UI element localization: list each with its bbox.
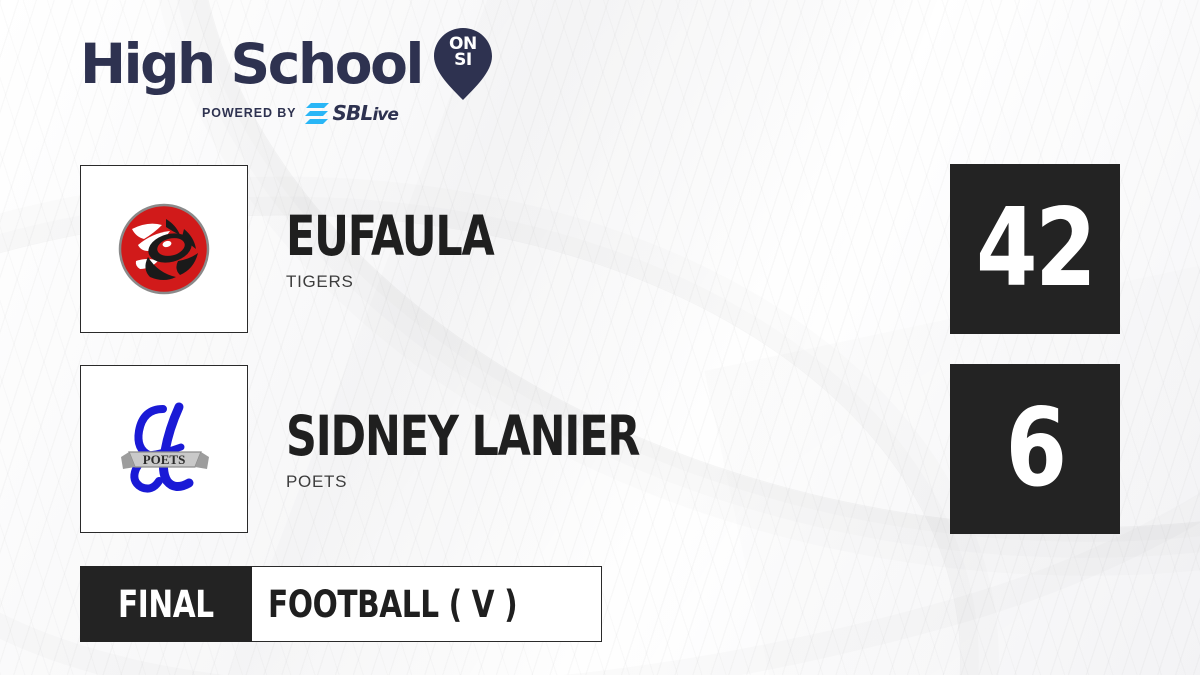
brand-title: High School <box>80 37 422 92</box>
map-pin-label: ON SI <box>434 37 492 68</box>
team-score-box: 42 <box>950 164 1120 334</box>
badge-line-2: SI <box>434 53 492 69</box>
team-name: SIDNEY LANIER <box>286 407 937 465</box>
sblive-s-mark-icon <box>304 103 330 124</box>
brand-wordmark: High School ON SI <box>80 32 520 96</box>
sblive-word-main: SBL <box>332 101 372 125</box>
status-bar: FINAL FOOTBALL ( V ) <box>80 566 602 642</box>
status-badge: FINAL <box>80 566 252 642</box>
powered-by-row: POWERED BY SBLive <box>202 102 520 124</box>
status-badge-label: FINAL <box>118 583 214 626</box>
team-score: 42 <box>976 195 1094 303</box>
team-score: 6 <box>1005 395 1064 503</box>
sblive-wordmark: SBLive <box>332 101 397 125</box>
brand-header: High School ON SI POWERED BY SBLive <box>80 32 520 142</box>
logo-banner-text: POETS <box>143 452 186 467</box>
map-pin-icon: ON SI <box>434 28 492 100</box>
sblive-word-suffix: ive <box>372 105 397 125</box>
team-score-box: 6 <box>950 364 1120 534</box>
eufaula-tigers-logo <box>80 165 248 333</box>
sport-label: FOOTBALL ( V ) <box>268 583 517 626</box>
team-name: EUFAULA <box>286 207 937 265</box>
sblive-logo: SBLive <box>304 101 397 125</box>
scoreboard-graphic: High School ON SI POWERED BY SBLive <box>0 0 1200 675</box>
powered-by-label: POWERED BY <box>202 106 296 120</box>
sidney-lanier-poets-logo: POETS <box>80 365 248 533</box>
sport-label-box: FOOTBALL ( V ) <box>252 566 603 642</box>
